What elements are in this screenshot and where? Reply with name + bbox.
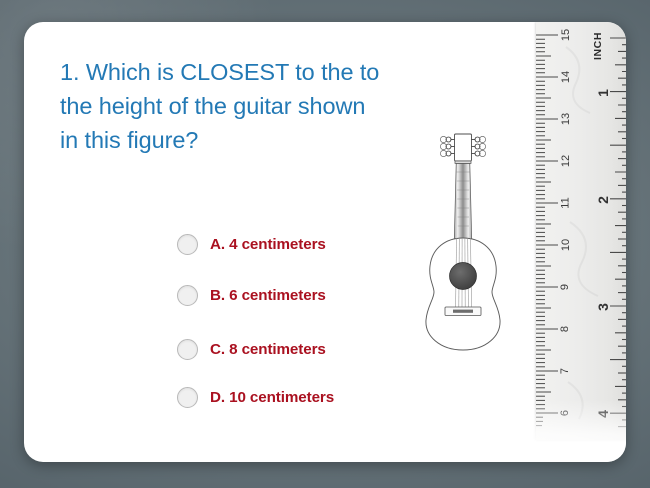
question-card: 1. Which is CLOSEST to the to the height… bbox=[24, 22, 626, 462]
ruler-inch-label: 4 bbox=[595, 410, 611, 418]
radio-button-b[interactable] bbox=[177, 285, 198, 306]
ruler-cm-label: 7 bbox=[559, 368, 571, 374]
guitar-body bbox=[426, 238, 500, 350]
ruler-body: 15 14 13 12 11 10 9 8 7 6 1 2 3 4 INCH bbox=[536, 22, 626, 440]
option-a[interactable]: A. 4 centimeters bbox=[177, 234, 326, 255]
option-d-label: D. 10 centimeters bbox=[210, 389, 334, 406]
radio-button-d[interactable] bbox=[177, 387, 198, 408]
option-c[interactable]: C. 8 centimeters bbox=[177, 339, 326, 360]
option-d[interactable]: D. 10 centimeters bbox=[177, 387, 334, 408]
ruler-cm-label: 10 bbox=[560, 239, 572, 251]
ruler-inch-label: 1 bbox=[595, 89, 611, 97]
radio-button-a[interactable] bbox=[177, 234, 198, 255]
acoustic-guitar-illustration bbox=[422, 126, 518, 354]
ruler-inch-unit-label: INCH bbox=[592, 32, 604, 60]
ruler-cm-label: 12 bbox=[560, 155, 572, 167]
ruler-cm-label: 6 bbox=[559, 410, 571, 416]
question-text: 1. Which is CLOSEST to the to the height… bbox=[60, 55, 380, 157]
ruler-cm-label: 11 bbox=[560, 197, 572, 208]
ruler-cm-label: 8 bbox=[559, 326, 571, 332]
radio-button-c[interactable] bbox=[177, 339, 198, 360]
guitar-headstock bbox=[440, 134, 485, 163]
ruler-inch-label: 2 bbox=[595, 196, 611, 204]
ruler-cm-label: 9 bbox=[559, 284, 571, 290]
ruler-inch-label: 3 bbox=[595, 303, 611, 311]
option-c-label: C. 8 centimeters bbox=[210, 341, 326, 358]
ruler-cm-label: 15 bbox=[560, 29, 572, 41]
ruler-cm-label: 14 bbox=[560, 71, 572, 83]
ruler-cm-label: 13 bbox=[560, 113, 572, 125]
ruler-image: 15 14 13 12 11 10 9 8 7 6 1 2 3 4 INCH bbox=[512, 22, 626, 462]
option-b[interactable]: B. 6 centimeters bbox=[177, 285, 326, 306]
option-b-label: B. 6 centimeters bbox=[210, 287, 326, 304]
option-a-label: A. 4 centimeters bbox=[210, 236, 326, 253]
